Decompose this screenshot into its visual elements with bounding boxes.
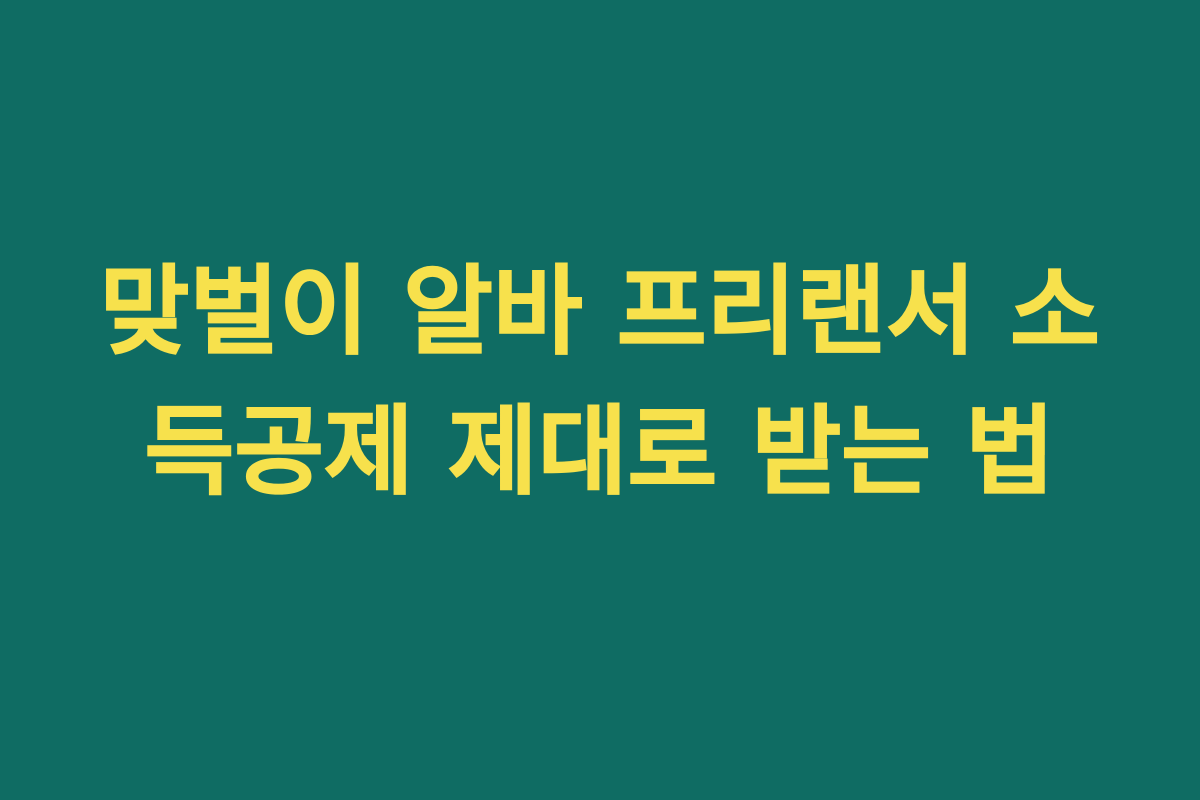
banner-canvas: 맞벌이 알바 프리랜서 소 득공제 제대로 받는 법 bbox=[0, 0, 1200, 800]
title-block: 맞벌이 알바 프리랜서 소 득공제 제대로 받는 법 bbox=[0, 0, 1200, 800]
title-line-1: 맞벌이 알바 프리랜서 소 bbox=[0, 242, 1200, 382]
title-line-2: 득공제 제대로 받는 법 bbox=[0, 382, 1200, 522]
